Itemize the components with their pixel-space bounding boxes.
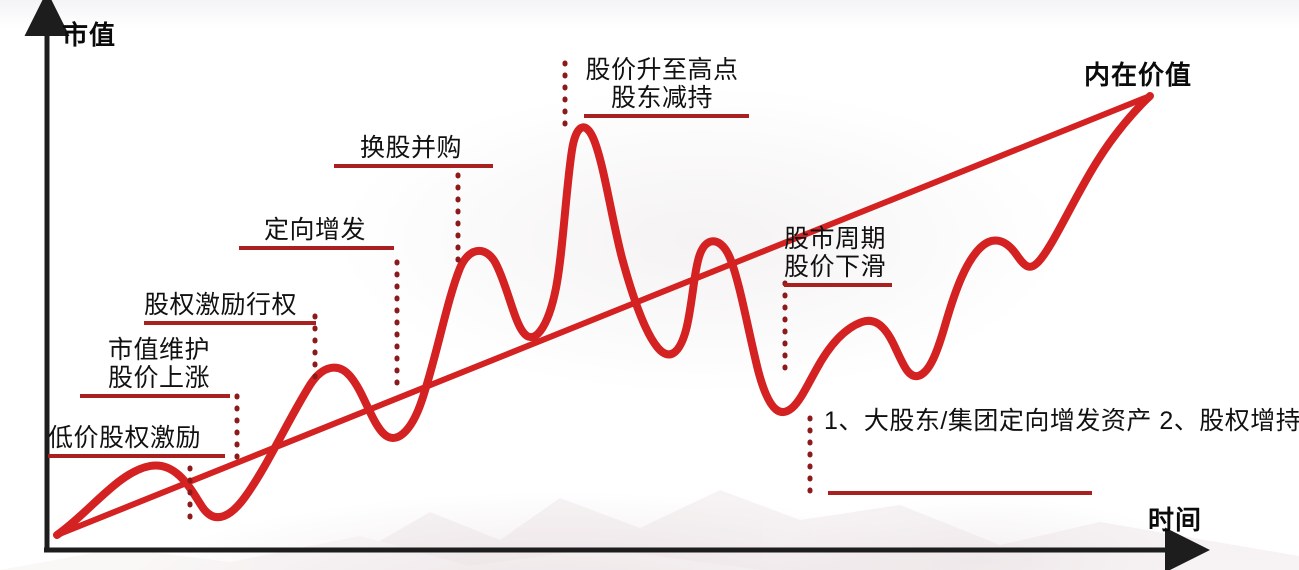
intrinsic-value-label: 内在价值: [1084, 55, 1192, 92]
annotation-underline: [584, 114, 749, 118]
diagram-canvas: 低价股权激励 市值维护 股价上涨 股权激励行权 定向增发 换股并购 股价升至高点…: [0, 0, 1299, 570]
annotation-line: 股价下滑: [784, 253, 892, 281]
annotation-market-cycle-decline: 股市周期 股价下滑: [784, 225, 892, 287]
annotation-line: 股市周期: [784, 225, 892, 253]
recovery-action-item-2: 2、股权增持/回购: [1159, 407, 1299, 435]
annotation-line: 市值维护: [88, 336, 230, 364]
annotation-line: 股价上涨: [88, 364, 230, 392]
annotation-line: 换股并购: [360, 134, 493, 162]
annotation-line: 股东减持: [575, 84, 749, 112]
annotation-line: 股价升至高点: [575, 56, 749, 84]
annotation-line: 低价股权激励: [48, 424, 225, 452]
annotation-underline: [784, 283, 892, 287]
annotation-underline: [239, 246, 394, 250]
annotation-equity-incentive-exercise: 股权激励行权: [144, 291, 316, 325]
annotation-share-swap-merger: 换股并购: [360, 134, 493, 168]
annotation-underline: [80, 394, 230, 398]
annotation-underline: [334, 164, 493, 168]
annotation-market-cap-maintenance: 市值维护 股价上涨: [88, 336, 230, 398]
recovery-action-item-1: 1、大股东/集团定向增发资产: [824, 407, 1152, 435]
annotation-line: 股权激励行权: [144, 291, 316, 319]
annotation-underline: [48, 454, 225, 458]
annotation-recovery-actions: 1、大股东/集团定向增发资产 2、股权增持/回购: [824, 405, 1299, 438]
annotation-underline: [144, 321, 316, 325]
annotation-low-price-equity-incentive: 低价股权激励: [48, 424, 225, 458]
annotation-price-peak: 股价升至高点 股东减持: [575, 56, 749, 118]
x-axis-label: 时间: [1148, 500, 1202, 537]
annotation-line: 定向增发: [264, 216, 394, 244]
y-axis-label: 市值: [62, 15, 116, 52]
annotation-private-placement: 定向增发: [264, 216, 394, 250]
